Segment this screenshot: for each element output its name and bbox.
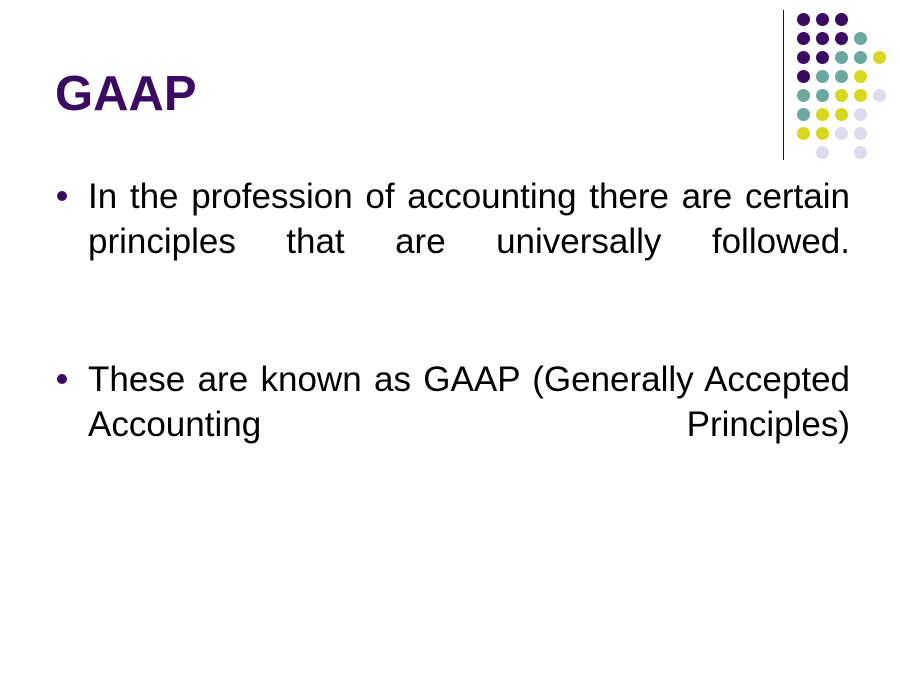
dot-row [797, 13, 892, 32]
dot-teal-icon [854, 51, 867, 64]
header-decoration [778, 0, 900, 170]
dot-none-icon [873, 32, 886, 45]
dot-purple-icon [797, 51, 810, 64]
dot-none-icon [797, 146, 810, 159]
dot-yellow-icon [816, 127, 829, 140]
dot-lavender-icon [854, 146, 867, 159]
dot-teal-icon [797, 108, 810, 121]
dot-none-icon [873, 127, 886, 140]
bullet-point-icon [57, 374, 67, 384]
dot-lavender-icon [854, 127, 867, 140]
dot-yellow-icon [797, 127, 810, 140]
dot-none-icon [873, 146, 886, 159]
vertical-divider-line [783, 10, 784, 160]
list-item: In the profession of accounting there ar… [50, 174, 850, 309]
dot-teal-icon [816, 70, 829, 83]
dot-lavender-icon [835, 127, 848, 140]
dot-yellow-icon [835, 89, 848, 102]
dot-row [797, 51, 892, 70]
dot-row [797, 127, 892, 146]
dot-row [797, 89, 892, 108]
dot-lavender-icon [854, 108, 867, 121]
dot-purple-icon [816, 32, 829, 45]
dot-matrix-icon [797, 13, 892, 165]
bullet-point-icon [57, 191, 67, 201]
dot-purple-icon [797, 13, 810, 26]
dot-none-icon [873, 108, 886, 121]
dot-lavender-icon [873, 89, 886, 102]
dot-row [797, 146, 892, 165]
dot-teal-icon [816, 89, 829, 102]
dot-purple-icon [816, 51, 829, 64]
dot-purple-icon [816, 13, 829, 26]
slide-canvas: GAAP In the profession of accounting the… [0, 0, 900, 675]
dot-none-icon [873, 70, 886, 83]
list-item: These are known as GAAP (Generally Accep… [50, 357, 850, 492]
dot-row [797, 32, 892, 51]
bullet-text: In the profession of accounting there ar… [88, 174, 850, 309]
dot-lavender-icon [816, 146, 829, 159]
dot-yellow-icon [835, 108, 848, 121]
dot-none-icon [873, 13, 886, 26]
dot-yellow-icon [854, 89, 867, 102]
page-title: GAAP [55, 68, 197, 122]
dot-yellow-icon [854, 70, 867, 83]
bullet-list: In the profession of accounting there ar… [50, 174, 850, 540]
dot-row [797, 70, 892, 89]
dot-purple-icon [835, 32, 848, 45]
dot-teal-icon [854, 32, 867, 45]
dot-row [797, 108, 892, 127]
dot-teal-icon [835, 70, 848, 83]
dot-purple-icon [797, 32, 810, 45]
dot-purple-icon [797, 70, 810, 83]
dot-teal-icon [835, 51, 848, 64]
dot-yellow-icon [816, 108, 829, 121]
bullet-text: These are known as GAAP (Generally Accep… [88, 357, 850, 492]
dot-purple-icon [835, 13, 848, 26]
dot-none-icon [835, 146, 848, 159]
dot-yellow-icon [873, 51, 886, 64]
dot-teal-icon [797, 89, 810, 102]
dot-none-icon [854, 13, 867, 26]
